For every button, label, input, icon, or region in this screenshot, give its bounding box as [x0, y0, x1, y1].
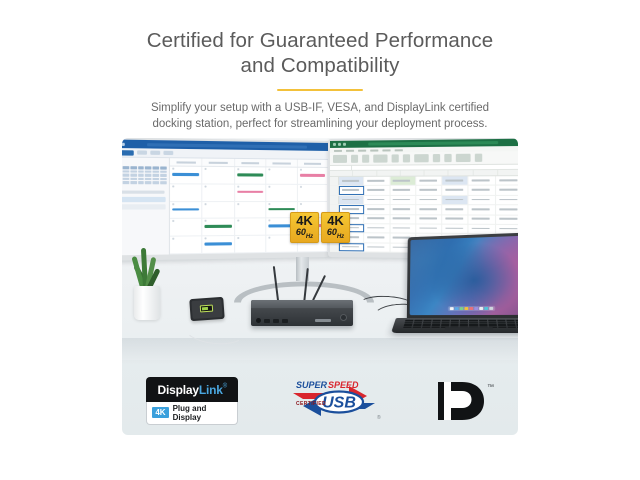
page-title-line-2: and Compatibility — [0, 53, 640, 78]
laptop-dock-bar — [448, 305, 495, 311]
svg-text:SPEED: SPEED — [328, 380, 359, 390]
laptop-lid — [407, 232, 518, 320]
smartphone — [189, 297, 224, 321]
svg-text:™: ™ — [487, 384, 494, 391]
badge-refresh-label: 60Hz — [296, 227, 313, 242]
usb-port — [282, 319, 288, 323]
ribbon-item — [150, 151, 160, 155]
laptop-screen — [410, 235, 518, 315]
sidebar-item — [122, 196, 166, 201]
svg-text:®: ® — [377, 414, 381, 421]
sidebar-item — [122, 204, 166, 209]
badge-refresh-label: 60Hz — [327, 227, 344, 242]
displayport-logo: ™ D ™ — [432, 378, 494, 424]
ribbon-item — [137, 150, 147, 154]
svg-text:CERTIFIED: CERTIFIED — [296, 401, 326, 407]
ribbon-item — [163, 151, 173, 155]
badge-4k-60hz: 4K 60Hz — [290, 212, 319, 243]
page-title: Certified for Guaranteed Performance and… — [0, 28, 640, 78]
registered-mark-icon: ® — [223, 383, 227, 389]
table-row — [330, 176, 518, 186]
displaylink-tagline: Plug and Display — [173, 404, 233, 422]
svg-text:USB: USB — [322, 394, 356, 411]
displayport-svg: ™ — [432, 378, 494, 424]
displaylink-wordmark: DisplayLink® — [146, 377, 238, 402]
titlebar-search — [147, 143, 307, 149]
superspeed-text-usb: USB — [383, 377, 384, 378]
certification-logo-strip: DisplayLink® 4K Plug and Display USB — [122, 366, 518, 435]
window-icon — [122, 142, 125, 145]
table-row — [330, 196, 518, 206]
title-divider — [277, 89, 363, 91]
potted-plant — [130, 248, 164, 320]
mini-calendar — [122, 166, 167, 184]
battery-charging-icon — [200, 305, 213, 313]
displaylink-tagline-bar: 4K Plug and Display — [146, 402, 238, 425]
sidebar-section-label — [122, 190, 165, 193]
new-event-button — [122, 150, 134, 156]
product-feature-card: Certified for Guaranteed Performance and… — [0, 0, 640, 480]
badge-resolution-label: 4K — [327, 214, 344, 227]
displaylink-logo: DisplayLink® 4K Plug and Display — [146, 377, 238, 425]
svg-text:SUPER: SUPER — [296, 380, 328, 390]
header: Certified for Guaranteed Performance and… — [0, 28, 640, 132]
resolution-badge-group: 4K 60Hz 4K 60Hz — [290, 212, 350, 243]
page-subtitle: Simplify your setup with a USB-IF, VESA,… — [0, 101, 640, 132]
table-row — [330, 186, 518, 196]
page-subtitle-line-2: docking station, perfect for streamlinin… — [0, 117, 640, 133]
superspeed-text-super: SUPER — [383, 377, 384, 378]
badge-4k-60hz: 4K 60Hz — [321, 212, 350, 243]
dock-power-button — [340, 314, 347, 321]
spreadsheet-ribbon — [330, 151, 518, 166]
superspeed-text-speed: SPEED — [383, 377, 384, 378]
superspeed-usb-logo: USB SUPER SPEED CERTIFIED ® SUPER SPEED … — [287, 377, 383, 425]
audio-port — [256, 318, 261, 323]
laptop-base — [391, 318, 518, 333]
usb-port — [273, 319, 279, 323]
product-photo-panel: 4K 60Hz 4K 60Hz — [122, 138, 518, 435]
laptop — [396, 234, 518, 346]
dock-ports — [256, 318, 288, 323]
calendar-week-row — [170, 184, 328, 202]
superspeed-usb-svg: USB SUPER SPEED CERTIFIED ® — [287, 377, 383, 425]
docking-station — [251, 300, 353, 326]
laptop-trackpad — [445, 327, 494, 332]
displaylink-4k-badge: 4K — [152, 407, 168, 418]
displayport-glyph-label: D — [494, 378, 495, 379]
displaylink-word-display: Display — [158, 383, 199, 397]
calendar-sidebar — [122, 158, 170, 256]
plant-pot — [134, 286, 160, 320]
dock-brand-mark — [315, 319, 331, 322]
displaylink-word-link: Link — [199, 383, 223, 397]
calendar-week-row — [170, 167, 328, 185]
page-title-line-1: Certified for Guaranteed Performance — [0, 28, 640, 53]
badge-resolution-label: 4K — [296, 214, 313, 227]
displayport-tm-label: ™ — [494, 378, 495, 379]
page-subtitle-line-1: Simplify your setup with a USB-IF, VESA,… — [0, 101, 640, 117]
superspeed-text-certified: CERTIFIED — [383, 377, 384, 378]
usb-port — [264, 319, 270, 323]
